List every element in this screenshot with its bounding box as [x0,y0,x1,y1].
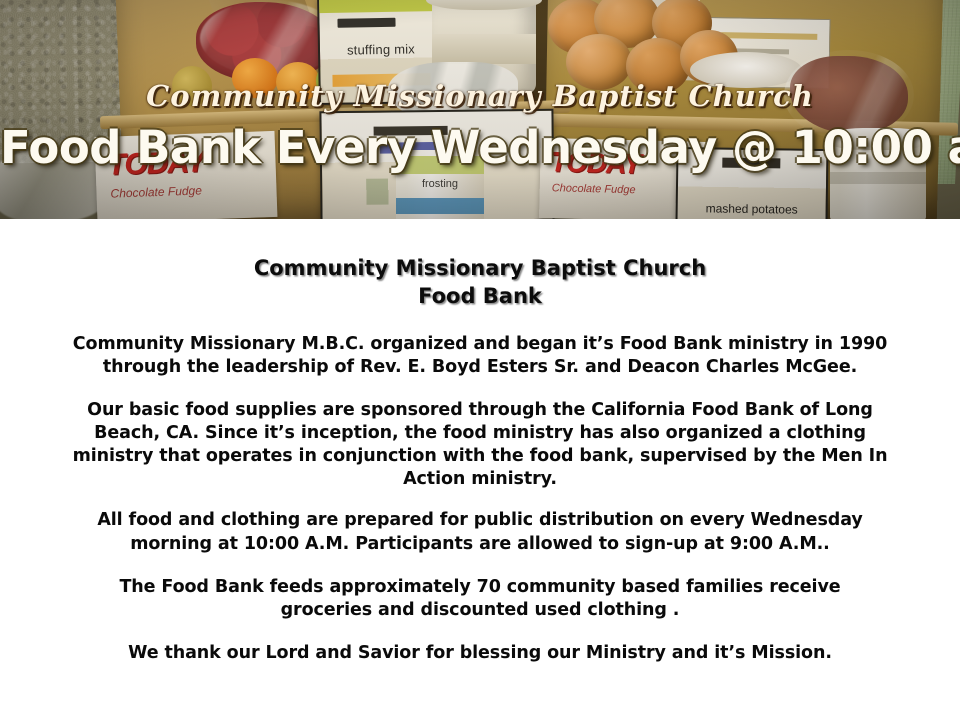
banner-church-name: Community Missionary Baptist Church [0,82,960,111]
frosting-label: frosting [396,178,484,190]
paragraph-history: Community Missionary M.B.C. organized an… [72,333,888,379]
tub-lid [426,0,542,10]
slide: stuffing mix [0,0,960,720]
stuffing-box-brand-tag [337,18,395,28]
content-area: Community Missionary Baptist Church Food… [0,219,960,720]
today-bag-subtext: Chocolate Fudge [110,183,202,200]
page-title-line-2: Food Bank [0,283,960,311]
stuffing-mix-label: stuffing mix [328,41,434,58]
paragraph-families-served: The Food Bank feeds approximately 70 com… [72,576,888,622]
paragraph-distribution: All food and clothing are prepared for p… [72,509,888,555]
page-title: Community Missionary Baptist Church Food… [0,219,960,311]
paragraph-closing: We thank our Lord and Savior for blessin… [72,642,888,665]
page-title-line-1: Community Missionary Baptist Church [254,256,706,280]
mashed-potatoes-label: mashed potatoes [678,201,826,217]
tub-label-band [432,34,536,64]
paragraph-list: Community Missionary M.B.C. organized an… [0,311,960,665]
frosting-blue-band [396,198,484,214]
photo-banner: stuffing mix [0,0,960,219]
today-bag-subtext: Chocolate Fudge [552,182,636,196]
stuffing-box-band [319,0,441,13]
banner-headline: Food Bank Every Wednesday @ 10:00 a.m. [0,124,960,171]
paragraph-supplies: Our basic food supplies are sponsored th… [72,399,888,491]
